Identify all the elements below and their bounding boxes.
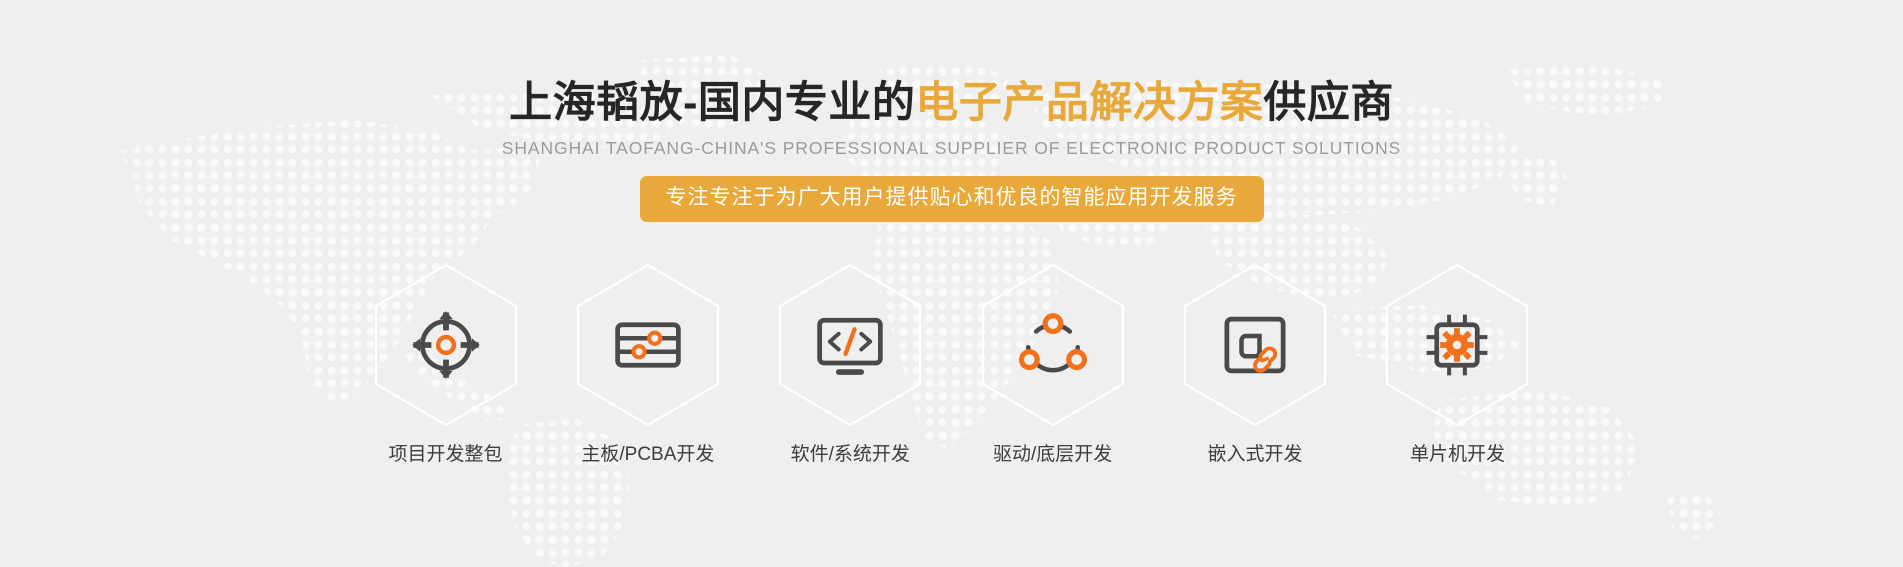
circuit-board-icon	[612, 309, 684, 381]
service-label: 软件/系统开发	[791, 442, 910, 468]
service-list: 项目开发整包 主板/PCBA开发	[362, 262, 1542, 468]
service-label: 嵌入式开发	[1208, 442, 1303, 468]
tagline-badge: 专注专注于为广大用户提供贴心和优良的智能应用开发服务	[640, 176, 1264, 222]
title-part-2: 供应商	[1263, 79, 1394, 127]
hexagon-frame	[372, 262, 520, 428]
hexagon-frame	[1181, 262, 1329, 428]
service-item-project-package[interactable]: 项目开发整包	[362, 262, 530, 468]
embedded-chain-link-icon	[1219, 309, 1291, 381]
service-item-embedded[interactable]: 嵌入式开发	[1171, 262, 1339, 468]
microchip-gear-icon	[1421, 309, 1493, 381]
target-crosshair-icon	[410, 309, 482, 381]
page-title: 上海韬放-国内专业的电子产品解决方案供应商	[0, 78, 1903, 128]
node-network-icon	[1017, 309, 1089, 381]
title-part-1: 上海韬放-国内专业的	[509, 79, 915, 127]
headline-block: 上海韬放-国内专业的电子产品解决方案供应商 SHANGHAI TAOFANG-C…	[0, 78, 1903, 222]
hero-banner: 上海韬放-国内专业的电子产品解决方案供应商 SHANGHAI TAOFANG-C…	[0, 0, 1903, 567]
page-subtitle: SHANGHAI TAOFANG-CHINA'S PROFESSIONAL SU…	[0, 137, 1903, 159]
service-label: 项目开发整包	[388, 442, 502, 468]
service-item-pcba[interactable]: 主板/PCBA开发	[564, 262, 732, 468]
monitor-code-icon	[814, 309, 886, 381]
service-item-software[interactable]: 软件/系统开发	[766, 262, 934, 468]
service-label: 主板/PCBA开发	[581, 442, 714, 468]
tagline-container: 专注专注于为广大用户提供贴心和优良的智能应用开发服务	[0, 176, 1903, 222]
title-highlight: 电子产品解决方案	[915, 79, 1263, 127]
hexagon-frame	[1383, 262, 1531, 428]
hexagon-frame	[776, 262, 924, 428]
hexagon-frame	[979, 262, 1127, 428]
service-label: 单片机开发	[1410, 442, 1505, 468]
service-label: 驱动/底层开发	[993, 442, 1112, 468]
service-item-mcu[interactable]: 单片机开发	[1373, 262, 1541, 468]
service-item-driver[interactable]: 驱动/底层开发	[969, 262, 1137, 468]
hexagon-frame	[574, 262, 722, 428]
